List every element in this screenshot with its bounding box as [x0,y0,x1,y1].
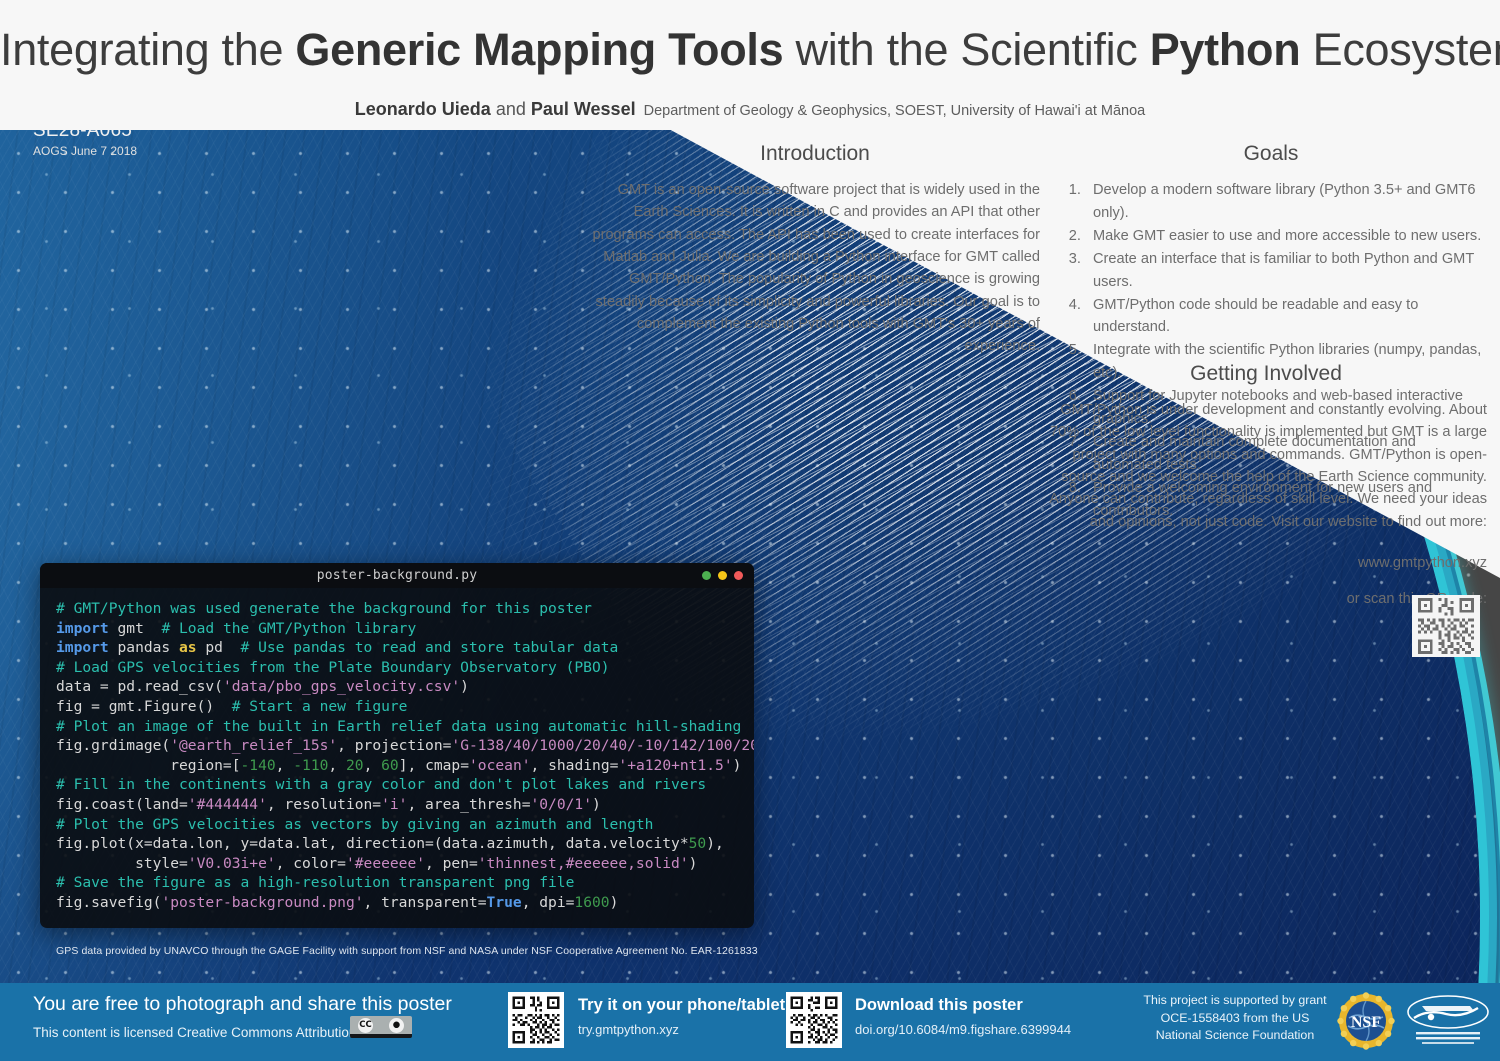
qr-code-download-poster[interactable] [786,992,842,1048]
code-line: fig.savefig('poster-background.png', tra… [56,894,618,911]
goals-list-item: Develop a modern software library (Pytho… [1085,179,1487,225]
code-line: data = pd.read_csv('data/pbo_gps_velocit… [56,678,469,695]
goals-heading: Goals [1055,142,1487,166]
footer-download-title: Download this poster [855,996,1023,1015]
footer-share-title: You are free to photograph and share thi… [33,993,452,1016]
code-line: import gmt # Load the GMT/Python library [56,620,416,637]
title-segment-3: Ecosystem [1300,24,1500,75]
qr-code-try-online[interactable] [508,992,564,1048]
author-name-1: Leonardo Uieda [355,99,491,119]
author-name-2: Paul Wessel [531,99,636,119]
code-window-body: # GMT/Python was used generate the backg… [40,588,754,913]
code-line: # GMT/Python was used generate the backg… [56,600,592,617]
poster-canvas: Integrating the Generic Mapping Tools wi… [0,0,1500,1061]
window-controls[interactable] [702,571,743,580]
title-segment-1: Integrating the [0,24,295,75]
cc-mark-icon: CC [358,1018,373,1033]
goals-list-item: GMT/Python code should be readable and e… [1085,294,1487,340]
goals-list-item: Make GMT easier to use and more accessib… [1085,225,1487,248]
nsf-logo-text: NSF [1351,1014,1381,1031]
getting-involved-body: GMT/Python is under development and cons… [1045,399,1487,533]
code-line: # Plot an image of the built in Earth re… [56,718,741,735]
footer-license-text: This content is licensed Creative Common… [33,1025,379,1040]
code-line: style='V0.03i+e', color='#eeeeee', pen='… [56,855,697,872]
code-line: fig.plot(x=data.lon, y=data.lat, directi… [56,835,724,852]
poster-header: Integrating the Generic Mapping Tools wi… [0,0,1500,130]
code-line: fig = gmt.Figure() # Start a new figure [56,698,407,715]
title-segment-bold-gmt: Generic Mapping Tools [295,24,783,75]
footer-grant-text: This project is supported by grant OCE-1… [1140,992,1330,1045]
author-affiliation: Department of Geology & Geophysics, SOES… [644,103,1146,119]
code-window: poster-background.py # GMT/Python was us… [40,563,754,928]
cc-by-icon: ● [389,1018,404,1033]
introduction-heading: Introduction [590,142,1040,166]
section-getting-involved: Getting Involved GMT/Python is under dev… [1045,362,1487,607]
code-line: fig.grdimage('@earth_relief_15s', projec… [56,737,754,754]
code-window-filename: poster-background.py [317,568,478,583]
window-close-dot-icon[interactable] [734,571,743,580]
code-line: # Plot the GPS velocities as vectors by … [56,816,653,833]
author-conjunction: and [491,99,531,119]
gps-data-credit: GPS data provided by UNAVCO through the … [56,945,758,957]
title-segment-bold-python: Python [1150,24,1301,75]
section-introduction: Introduction GMT is an open-source softw… [590,142,1040,358]
title-segment-2: with the Scientific [783,24,1149,75]
creative-commons-badge-icon[interactable]: CC ● [350,1016,412,1038]
getting-involved-heading: Getting Involved [1045,362,1487,386]
window-minimize-dot-icon[interactable] [702,571,711,580]
code-line: region=[-140, -110, 20, 60], cmap='ocean… [56,757,741,774]
author-byline: Leonardo Uieda and Paul WesselDepartment… [0,99,1500,120]
code-window-titlebar: poster-background.py [40,563,754,588]
goals-list-item: Create an interface that is familiar to … [1085,248,1487,294]
nsf-logo-icon: NSF [1337,992,1395,1050]
project-website-link[interactable]: www.gmtpython.xyz [1045,555,1487,571]
qr-code-website-image [1412,595,1480,657]
code-line: # Load GPS velocities from the Plate Bou… [56,659,610,676]
footer-try-title: Try it on your phone/tablet [578,996,785,1015]
code-line: # Fill in the continents with a gray col… [56,776,706,793]
code-line: fig.coast(land='#444444', resolution='i'… [56,796,601,813]
code-line: # Save the figure as a high-resolution t… [56,874,574,891]
code-line: import pandas as pd # Use pandas to read… [56,639,618,656]
poster-footer: You are free to photograph and share thi… [0,983,1500,1061]
conference-date: AOGS June 7 2018 [33,144,137,158]
footer-try-url[interactable]: try.gmtpython.xyz [578,1022,679,1037]
introduction-body: GMT is an open-source software project t… [590,179,1040,358]
qr-code-website[interactable] [1412,595,1480,657]
page-title: Integrating the Generic Mapping Tools wi… [0,24,1500,76]
soest-logo-icon [1404,994,1492,1049]
window-maximize-dot-icon[interactable] [718,571,727,580]
footer-download-doi[interactable]: doi.org/10.6084/m9.figshare.6399944 [855,1022,1071,1037]
